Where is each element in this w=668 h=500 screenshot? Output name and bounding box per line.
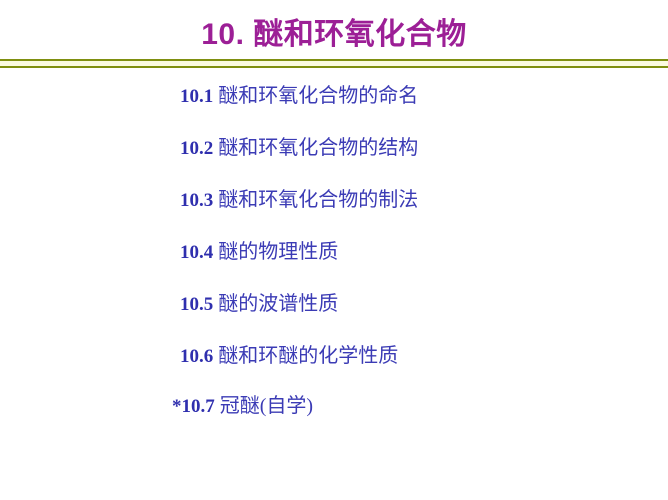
agenda-item-number: 10.2	[180, 138, 213, 159]
presentation-slide: 10. 醚和环氧化合物 10.1醚和环氧化合物的命名10.2醚和环氧化合物的结构…	[0, 0, 668, 500]
agenda-item-label: 醚和环氧化合物的命名	[218, 85, 418, 107]
agenda-item-number: 10.3	[180, 190, 213, 211]
agenda-item-label: 冠醚(自学)	[220, 395, 313, 417]
agenda-item[interactable]: 10.6醚和环醚的化学性质	[0, 343, 668, 370]
agenda-item-label: 醚和环醚的化学性质	[218, 345, 398, 367]
agenda-item-number: 10.6	[180, 346, 213, 367]
agenda-item[interactable]: 10.4醚的物理性质	[0, 239, 668, 266]
agenda-item-label: 醚的波谱性质	[218, 293, 338, 315]
agenda-item[interactable]: 10.3醚和环氧化合物的制法	[0, 187, 668, 214]
agenda-item[interactable]: 10.1醚和环氧化合物的命名	[0, 83, 668, 110]
agenda-item[interactable]: 10.2醚和环氧化合物的结构	[0, 135, 668, 162]
agenda-item-label: 醚的物理性质	[218, 241, 338, 263]
agenda-item-label: 醚和环氧化合物的制法	[218, 189, 418, 211]
agenda-item-label: 醚和环氧化合物的结构	[218, 137, 418, 159]
divider-line-top	[0, 59, 668, 61]
agenda-item[interactable]: 10.5醚的波谱性质	[0, 291, 668, 318]
page-title: 10. 醚和环氧化合物	[201, 16, 467, 54]
agenda-item-number: 10.4	[180, 242, 213, 263]
agenda-list: 10.1醚和环氧化合物的命名10.2醚和环氧化合物的结构10.3醚和环氧化合物的…	[0, 83, 668, 443]
title-divider	[0, 59, 668, 69]
agenda-item-star: *	[172, 396, 182, 417]
slide-title-block: 10. 醚和环氧化合物	[0, 16, 668, 54]
agenda-item[interactable]: *10.7冠醚(自学)	[0, 393, 668, 420]
agenda-item-number: 10.1	[180, 86, 213, 107]
agenda-item-number: 10.5	[180, 294, 213, 315]
agenda-item-number: 10.7	[182, 396, 215, 417]
divider-line-bottom	[0, 66, 668, 68]
